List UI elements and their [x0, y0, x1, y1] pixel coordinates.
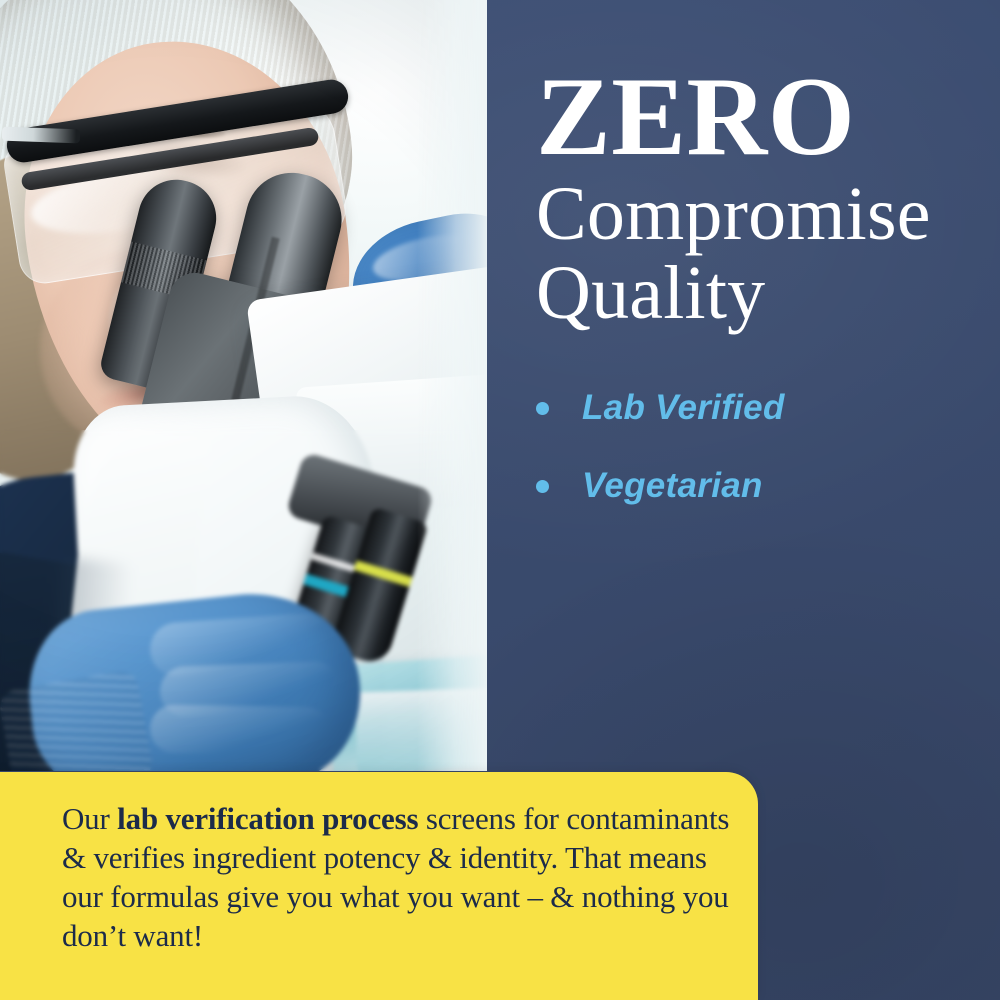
headline-line-compromise: Compromise: [536, 175, 988, 254]
bullet-item-vegetarian: Vegetarian: [536, 466, 976, 506]
glass-slide-highlight: [355, 687, 487, 771]
banner-text-before: Our: [62, 801, 117, 836]
yellow-callout-banner: Our lab verification process screens for…: [0, 772, 758, 1000]
feature-bullet-list: Lab Verified Vegetarian: [536, 388, 976, 544]
lab-technician-photo: [0, 0, 487, 771]
bullet-dot-icon: [536, 480, 549, 493]
headline-block: ZERO Compromise Quality: [536, 66, 988, 333]
bullet-label-lab-verified: Lab Verified: [582, 388, 785, 428]
objective-yellow-band: [354, 560, 412, 587]
banner-paragraph: Our lab verification process screens for…: [62, 799, 732, 955]
product-feature-graphic: ZERO Compromise Quality Lab Verified Veg…: [0, 0, 1000, 1000]
glove-finger-3: [150, 704, 331, 755]
safety-glasses-temple: [2, 127, 80, 144]
bullet-item-lab-verified: Lab Verified: [536, 388, 976, 428]
photo-artwork: [0, 0, 487, 771]
banner-text-bold: lab verification process: [117, 801, 418, 836]
headline-subtitle: Compromise Quality: [536, 175, 988, 333]
bullet-dot-icon: [536, 402, 549, 415]
headline-zero: ZERO: [536, 66, 988, 169]
headline-line-quality: Quality: [536, 254, 988, 333]
bullet-label-vegetarian: Vegetarian: [582, 466, 763, 506]
